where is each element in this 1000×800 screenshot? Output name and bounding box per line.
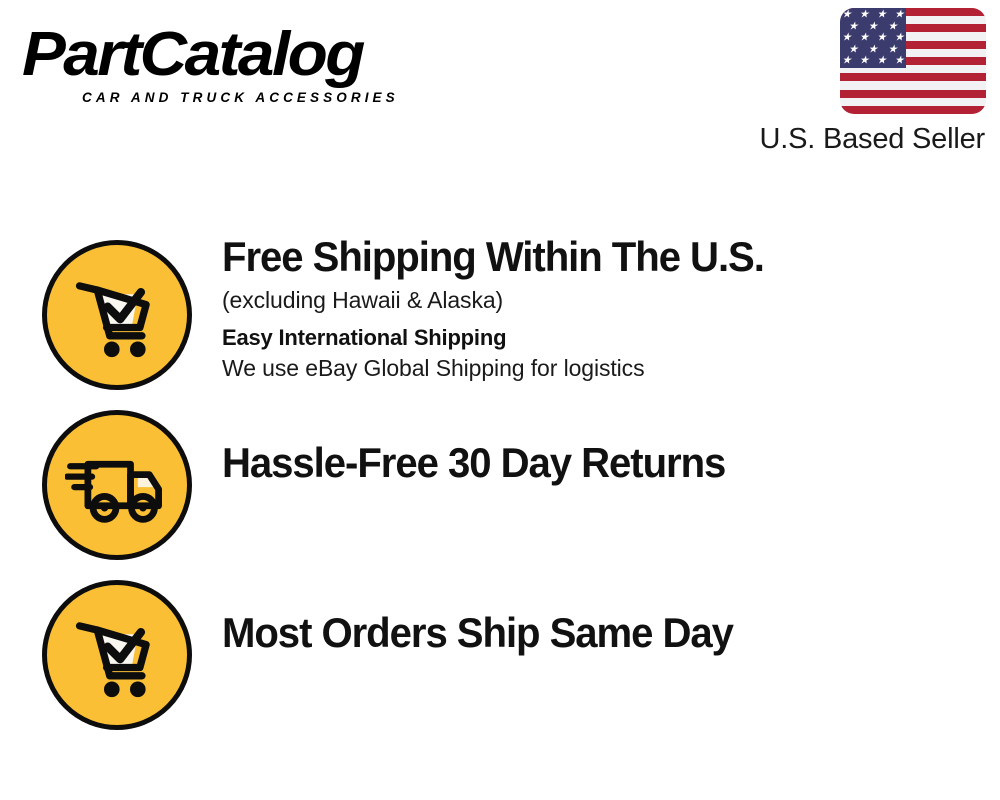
logo-tagline: CAR AND TRUCK ACCESSORIES — [82, 90, 399, 106]
us-based-seller-badge: U.S. Based Seller — [711, 8, 986, 157]
feature-title: Free Shipping Within The U.S. — [222, 232, 946, 282]
feature-note: (excluding Hawaii & Alaska) — [222, 285, 980, 315]
feature-row: Hassle-Free 30 Day Returns — [0, 398, 1000, 568]
feature-title: Hassle-Free 30 Day Returns — [222, 438, 946, 488]
feature-title: Most Orders Ship Same Day — [222, 608, 946, 658]
logo-wordmark: PartCatalog — [22, 22, 520, 88]
feature-row: Most Orders Ship Same Day — [0, 568, 1000, 738]
feature-text: Most Orders Ship Same Day — [222, 608, 980, 658]
shopping-cart-check-icon — [42, 580, 192, 730]
seller-label: U.S. Based Seller — [711, 121, 986, 157]
promo-banner: PartCatalog CAR AND TRUCK ACCESSORIES U.… — [0, 0, 1000, 800]
feature-row: Free Shipping Within The U.S. (excluding… — [0, 228, 1000, 398]
feature-subtitle-bold: Easy International Shipping — [222, 324, 980, 352]
shopping-cart-check-icon — [42, 240, 192, 390]
feature-text: Hassle-Free 30 Day Returns — [222, 438, 980, 488]
flag-stars — [840, 8, 986, 114]
feature-text: Free Shipping Within The U.S. (excluding… — [222, 232, 980, 383]
brand-logo: PartCatalog CAR AND TRUCK ACCESSORIES — [22, 22, 492, 114]
feature-subtitle: We use eBay Global Shipping for logistic… — [222, 353, 980, 383]
us-flag-icon — [840, 8, 986, 114]
delivery-truck-icon — [42, 410, 192, 560]
